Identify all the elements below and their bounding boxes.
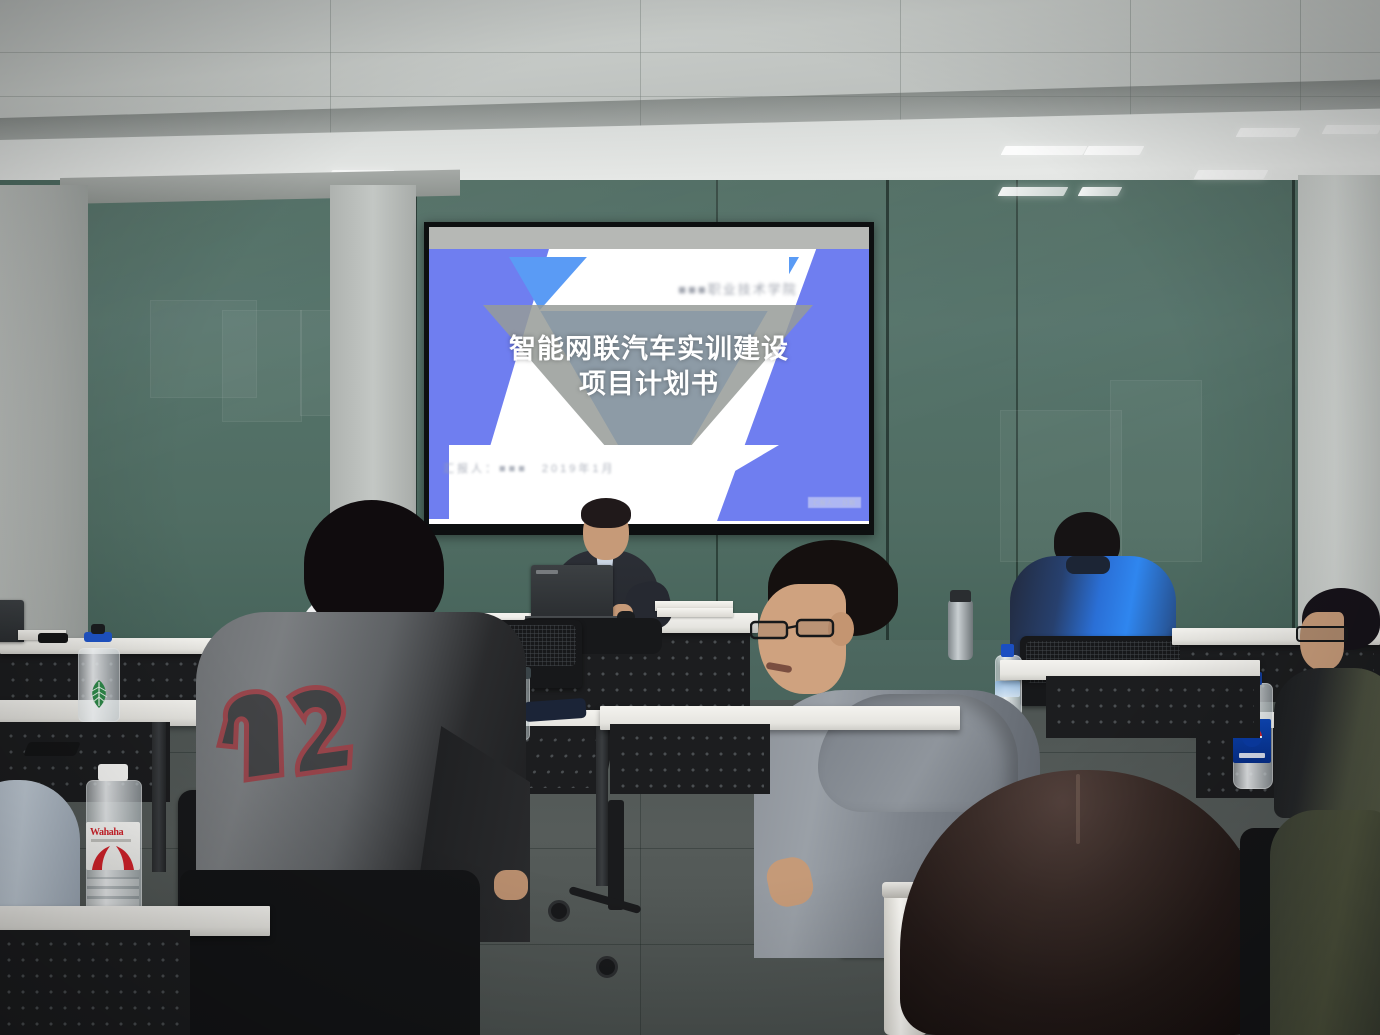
attendee-02-hand — [494, 870, 528, 900]
desk-leg — [152, 722, 166, 872]
chair-caster — [596, 956, 618, 978]
slide-title-line2: 项目计划书 — [429, 367, 869, 402]
projection-screen: ■■■职业技术学院 智能网联汽车实训建设 项目计划书 汇报人：■■■ 2019年… — [424, 222, 874, 535]
jacket-number-graphic — [203, 668, 367, 798]
attendee-olive-arm — [1270, 810, 1380, 1035]
desk-leg — [596, 726, 608, 886]
light-reflection — [998, 187, 1069, 196]
wahaha-label: Wahaha — [86, 822, 140, 870]
attendee-long-dark-hair — [900, 770, 1270, 1035]
leaf-graphic-icon — [86, 678, 112, 710]
smartphone-on-desk — [38, 633, 68, 643]
light-reflection — [1322, 125, 1380, 134]
chair-caster — [548, 900, 570, 922]
desk-panel — [0, 930, 190, 1035]
chair-back — [180, 870, 480, 1035]
sport-bottle-lid-knob — [91, 624, 105, 634]
slide-title-line1: 智能网联汽车实训建设 — [429, 332, 869, 367]
wahaha-cap — [98, 764, 128, 781]
attendee-olive-glasses — [1282, 588, 1380, 818]
chair-post — [608, 800, 624, 910]
woman-hair — [900, 770, 1270, 1035]
light-reflection — [1078, 187, 1123, 196]
light-reflection — [1236, 128, 1301, 137]
slide-organization-line: ■■■职业技术学院 — [613, 279, 863, 298]
light-reflection — [1084, 146, 1145, 155]
slide-top-gray-band — [429, 227, 869, 249]
light-reflection — [1194, 170, 1269, 179]
woman-hair-part — [1076, 774, 1080, 844]
bottle-sport-leaf — [78, 648, 118, 720]
desk-panel — [1046, 676, 1260, 738]
slide-watermark: 汇报人 · 日期 — [808, 497, 861, 508]
attendee-blue-collar — [1066, 556, 1110, 574]
presentation-slide: ■■■职业技术学院 智能网联汽车实训建设 项目计划书 汇报人：■■■ 2019年… — [429, 227, 869, 524]
meeting-room-photo: ■■■职业技术学院 智能网联汽车实训建设 项目计划书 汇报人：■■■ 2019年… — [0, 0, 1380, 1035]
slide-subtitle: 汇报人：■■■ 2019年1月 — [443, 460, 693, 476]
laptop-brand-label — [536, 570, 558, 574]
concrete-pier-left — [0, 185, 88, 655]
presenter-hair — [581, 498, 631, 528]
slide-title: 智能网联汽车实训建设 项目计划书 — [429, 332, 869, 401]
light-reflection — [1001, 146, 1088, 155]
glasses-icon — [750, 618, 836, 640]
desk-panel — [610, 724, 770, 794]
papers-stack — [657, 608, 733, 617]
glasses-icon — [1296, 626, 1348, 642]
smartphone-on-desk — [23, 742, 81, 756]
attendee-olive-torso — [1274, 668, 1380, 818]
